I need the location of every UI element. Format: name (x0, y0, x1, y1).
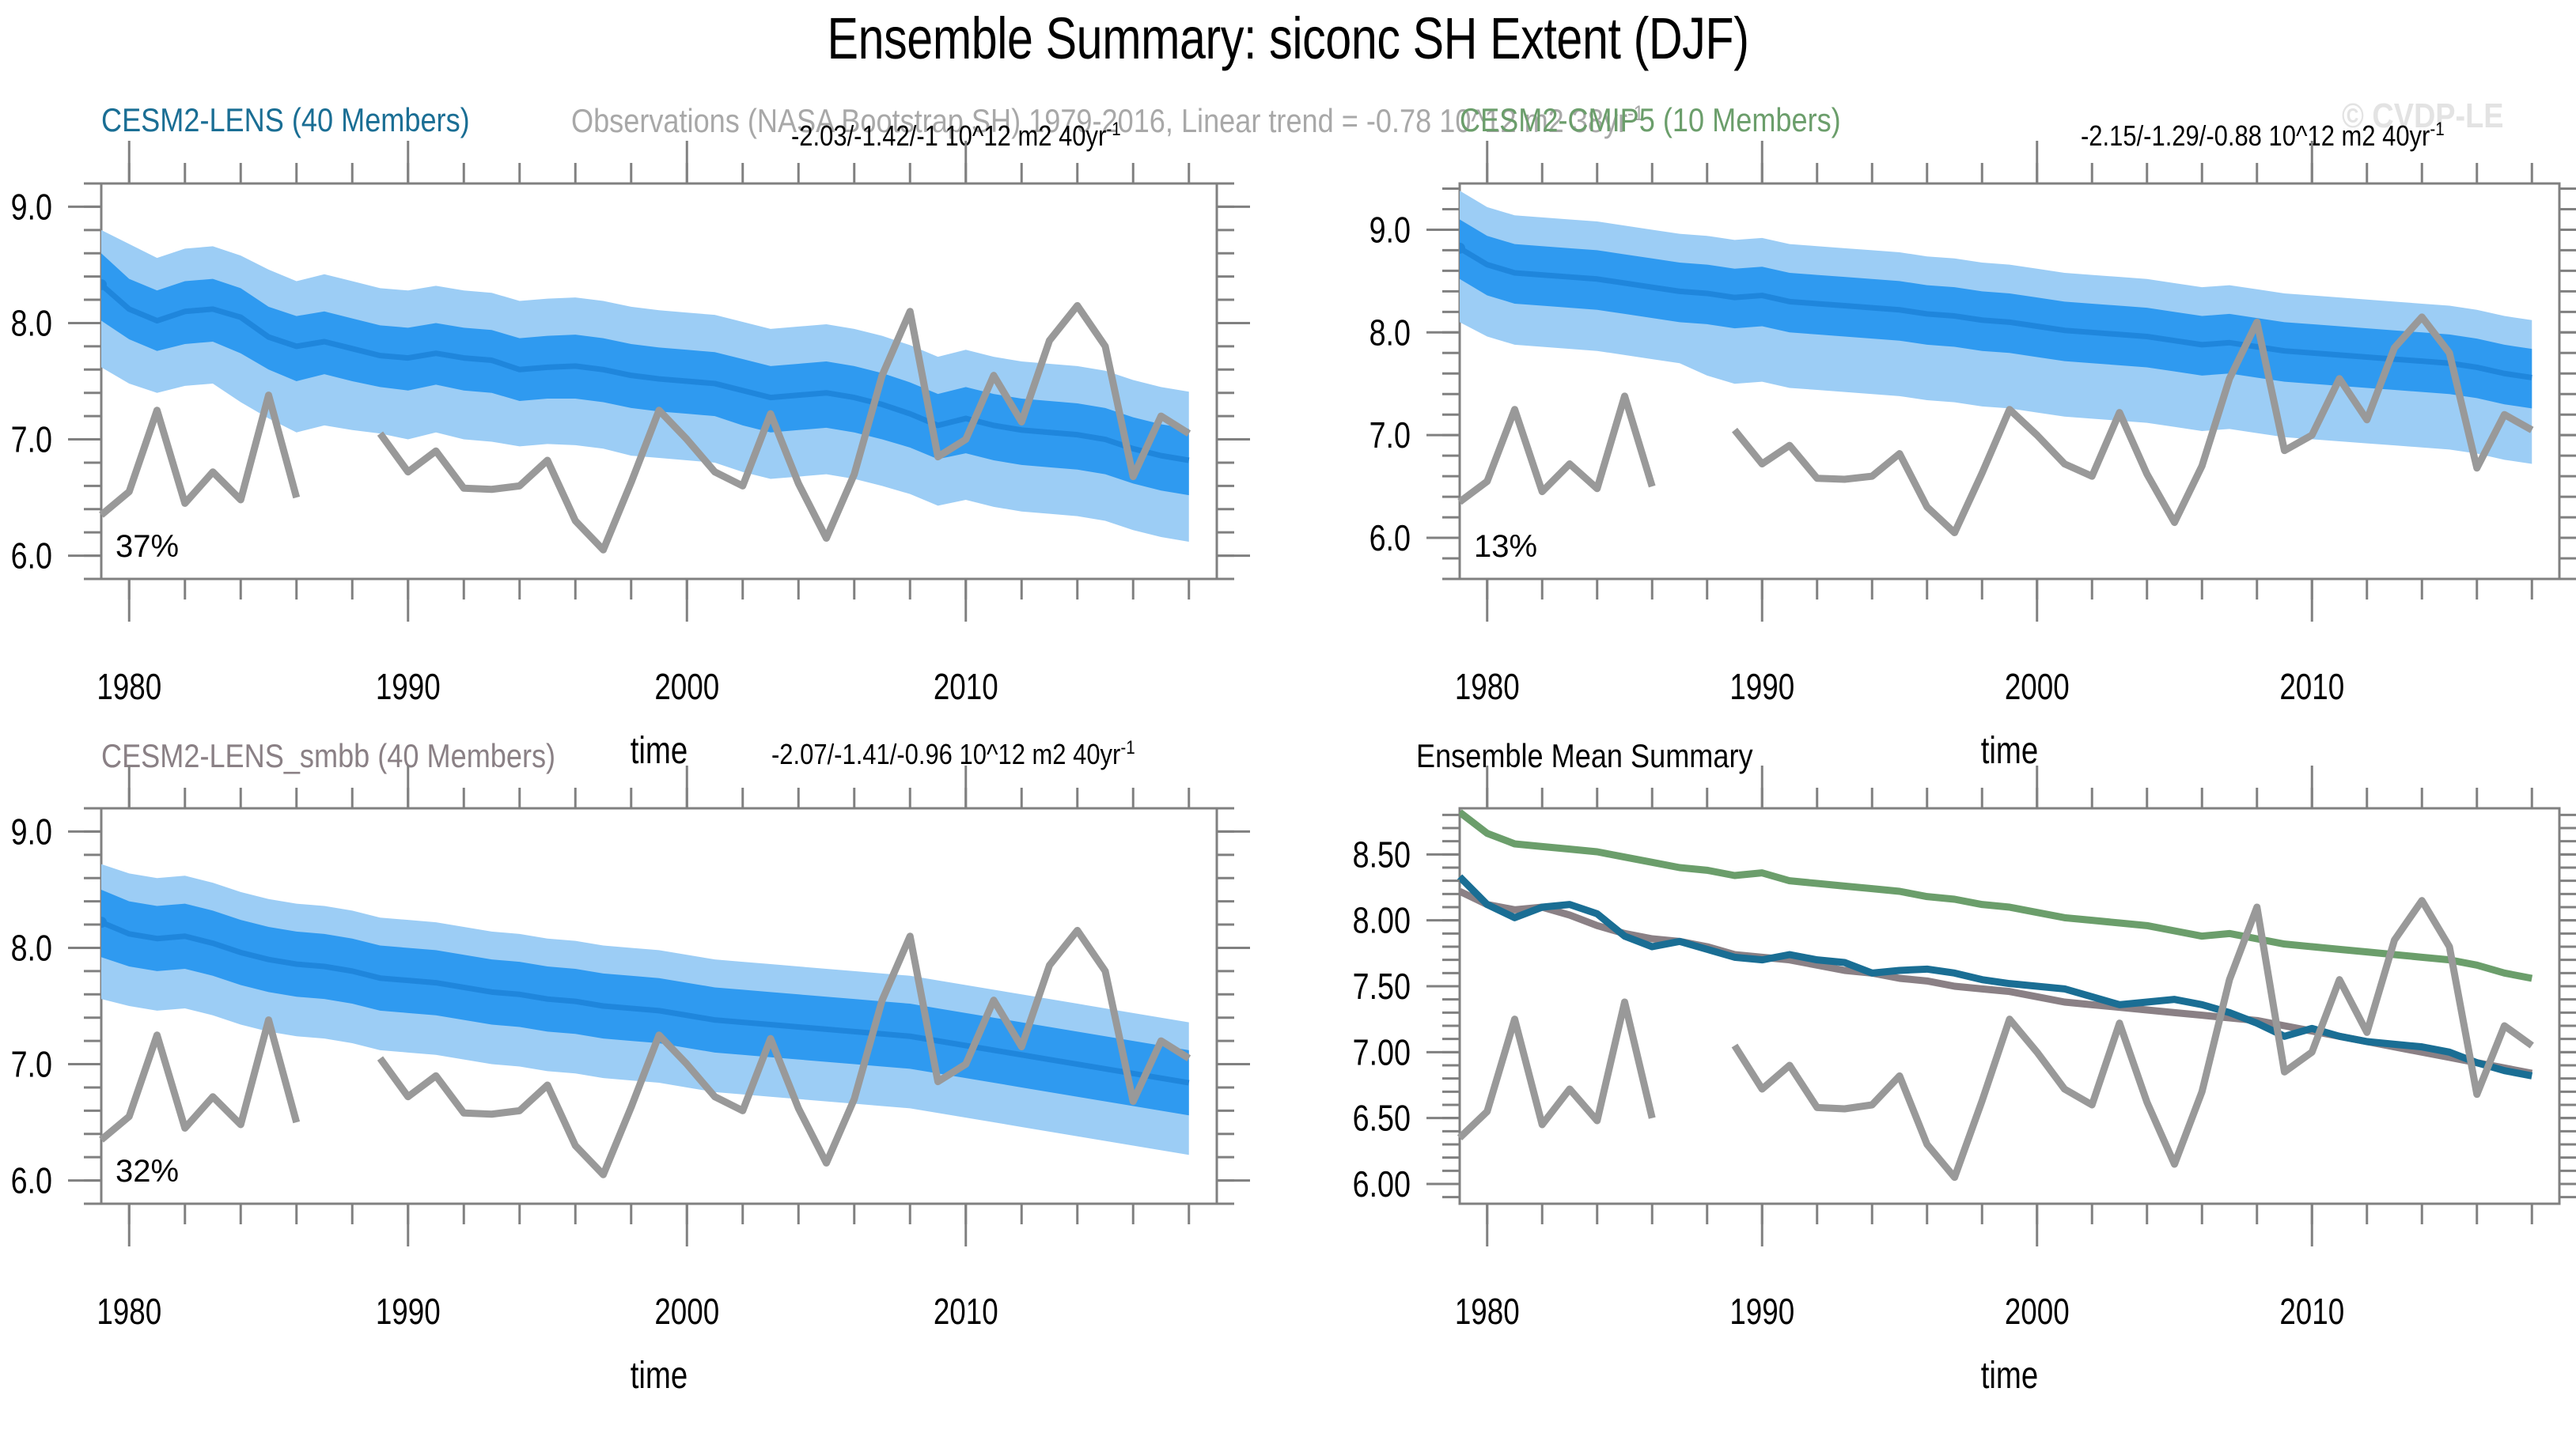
y-tick-label: 8.00 (1353, 900, 1411, 940)
x-tick-label: 2010 (2279, 666, 2344, 707)
y-tick-label: 8.0 (1369, 312, 1411, 353)
x-tick-label: 1980 (1455, 1291, 1520, 1332)
x-tick-label: 2000 (2005, 666, 2070, 707)
x-tick-label: 1980 (97, 666, 161, 707)
percent-obs-in-range: 13% (1474, 529, 1537, 564)
y-tick-label: 7.0 (1369, 415, 1411, 456)
panel-title-cesm2-lens-smbb: CESM2-LENS_smbb (40 Members) (101, 737, 555, 775)
trend-value: -2.15/-1.29/-0.88 10^12 m2 40yr (2081, 119, 2430, 152)
y-tick-label: 6.00 (1353, 1163, 1411, 1204)
x-tick-label: 2010 (934, 1291, 998, 1332)
panel-title-cesm2-lens: CESM2-LENS (40 Members) (101, 101, 470, 139)
x-tick-label: 1980 (1455, 666, 1520, 707)
x-tick-label: 1980 (97, 1291, 161, 1332)
y-tick-label: 6.0 (11, 535, 52, 576)
x-tick-label: 1990 (1729, 1291, 1794, 1332)
y-tick-label: 6.0 (1369, 517, 1411, 558)
y-tick-label: 6.0 (11, 1160, 52, 1201)
x-axis-label-ensemble-mean-summary: time (1915, 1354, 2104, 1398)
y-tick-label: 7.00 (1353, 1032, 1411, 1072)
panel-title-ensemble-mean-summary: Ensemble Mean Summary (1416, 737, 1753, 775)
y-tick-label: 7.0 (11, 419, 52, 460)
y-tick-label: 8.50 (1353, 834, 1411, 875)
panel-trend-cesm2-lens-smbb: -2.07/-1.41/-0.96 10^12 m2 40yr-1 (771, 737, 1135, 771)
x-tick-label: 2010 (2279, 1291, 2344, 1332)
plot-cesm2-cmip5: 9.08.07.06.0198019902000201013% (1294, 152, 2576, 816)
trend-superscript: -1 (2430, 119, 2444, 140)
y-tick-label: 8.0 (11, 928, 52, 968)
percent-obs-in-range: 37% (116, 529, 179, 564)
x-tick-label: 1990 (376, 666, 441, 707)
ensemble-mean-start-marker (1454, 243, 1465, 254)
panel-trend-cesm2-lens: -2.03/-1.42/-1 10^12 m2 40yr-1 (791, 119, 1121, 153)
ensemble-mean-start-marker (96, 917, 107, 928)
ensemble-mean-start-marker (96, 279, 107, 290)
x-tick-label: 2000 (654, 666, 719, 707)
x-axis-label-cesm2-lens: time (564, 729, 754, 773)
trend-superscript: -1 (1120, 737, 1135, 758)
percent-obs-in-range: 32% (116, 1154, 179, 1189)
panel-title-cesm2-cmip5: CESM2-CMIP5 (10 Members) (1460, 101, 1841, 139)
y-tick-label: 6.50 (1353, 1098, 1411, 1138)
x-tick-label: 1990 (1729, 666, 1794, 707)
panel-trend-cesm2-cmip5: -2.15/-1.29/-0.88 10^12 m2 40yr-1 (2081, 119, 2445, 153)
trend-superscript: -1 (1106, 119, 1120, 140)
x-tick-label: 2010 (934, 666, 998, 707)
y-tick-label: 8.0 (11, 303, 52, 343)
x-tick-label: 2000 (2005, 1291, 2070, 1332)
x-axis-label-cesm2-lens-smbb: time (564, 1354, 754, 1398)
x-tick-label: 2000 (654, 1291, 719, 1332)
y-tick-label: 9.0 (11, 811, 52, 852)
trend-value: -2.03/-1.42/-1 10^12 m2 40yr (791, 119, 1106, 152)
y-tick-label: 7.50 (1353, 966, 1411, 1006)
y-tick-label: 9.0 (1369, 210, 1411, 250)
page-title: Ensemble Summary: siconc SH Extent (DJF) (258, 5, 2319, 72)
x-axis-label-cesm2-cmip5: time (1915, 729, 2104, 773)
trend-value: -2.07/-1.41/-0.96 10^12 m2 40yr (771, 738, 1120, 770)
plot-ensemble-mean-summary: 8.508.007.507.006.506.001980199020002010 (1294, 777, 2576, 1441)
y-tick-label: 9.0 (11, 187, 52, 227)
y-tick-label: 7.0 (11, 1044, 52, 1084)
plot-cesm2-lens-smbb: 9.08.07.06.0198019902000201032% (0, 777, 1272, 1441)
plot-cesm2-lens: 9.08.07.06.0198019902000201037% (0, 152, 1272, 816)
x-tick-label: 1990 (376, 1291, 441, 1332)
